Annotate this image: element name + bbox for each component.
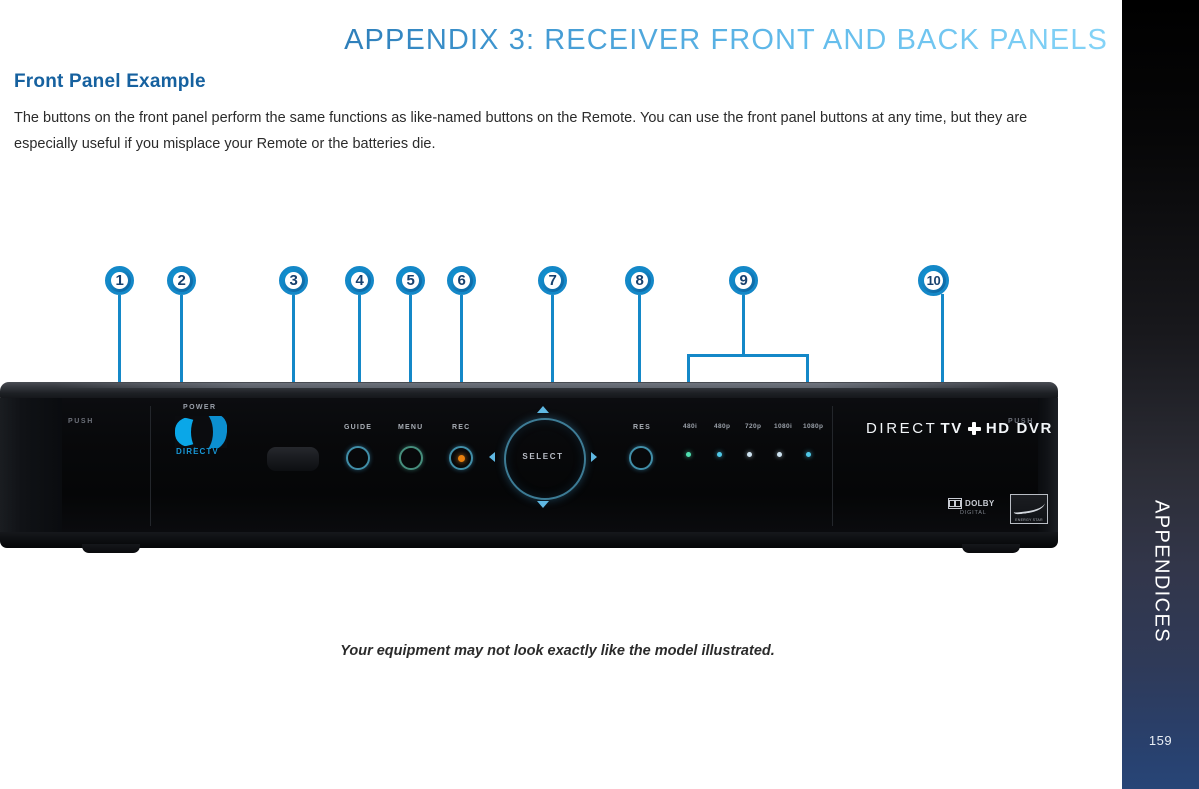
led-480p — [717, 452, 722, 457]
resolution-button-ring — [629, 446, 653, 470]
page-title: APPENDIX 3: RECEIVER FRONT AND BACK PANE… — [0, 24, 1108, 57]
dolby-sublabel: DIGITAL — [960, 510, 987, 516]
callout-bubble: 7 — [538, 266, 567, 295]
callout-bubble: 5 — [396, 266, 425, 295]
leader-line-9 — [742, 295, 745, 356]
guide-button[interactable] — [346, 446, 370, 470]
resolution-label-1080p: 1080p — [803, 423, 823, 430]
callout-number: 10 — [927, 274, 941, 287]
intro-paragraph: The buttons on the front panel perform t… — [14, 105, 1074, 157]
figure-caption: Your equipment may not look exactly like… — [0, 643, 1115, 659]
callout-number: 7 — [548, 273, 556, 288]
model-branding: DIRECTTV HD DVR — [866, 420, 1053, 437]
callout-number: 5 — [406, 273, 414, 288]
dolby-double-d-icon — [948, 498, 962, 509]
page-number: 159 — [1122, 733, 1199, 748]
led-1080i — [777, 452, 782, 457]
guide-button-ring — [346, 446, 370, 470]
callout-number: 9 — [739, 273, 747, 288]
record-button[interactable] — [449, 446, 473, 470]
callout-number: 6 — [457, 273, 465, 288]
arrow-down-icon[interactable] — [537, 501, 549, 508]
section-sidebar: APPENDICES 159 — [1122, 0, 1199, 789]
arrow-left-icon[interactable] — [489, 452, 495, 462]
led-1080p — [806, 452, 811, 457]
section-subtitle: Front Panel Example — [14, 71, 206, 93]
guide-button-label: GUIDE — [344, 424, 372, 431]
dolby-label: DOLBY — [965, 499, 995, 508]
callout-number: 1 — [115, 273, 123, 288]
resolution-label-720p: 720p — [745, 423, 761, 430]
brand-hd-dvr: HD DVR — [986, 420, 1053, 437]
resolution-label-1080i: 1080i — [774, 423, 792, 430]
access-card-door-seam — [832, 406, 833, 526]
resolution-label-480i: 480i — [683, 423, 697, 430]
brand-tv: TV — [940, 420, 962, 437]
energy-star-logo: ENERGY STAR — [1010, 494, 1048, 524]
appendix-page: APPENDICES 159 APPENDIX 3: RECEIVER FRON… — [0, 0, 1199, 789]
energy-star-swoosh-icon — [1012, 497, 1045, 515]
menu-button-ring — [399, 446, 423, 470]
power-button-directv-logo[interactable]: POWER DIRECTV — [175, 416, 227, 462]
callout-bubble: 4 — [345, 266, 374, 295]
resolution-indicator-lights — [683, 452, 815, 460]
device-foot-left — [82, 544, 140, 553]
callout-bubble: 6 — [447, 266, 476, 295]
sidebar-section-label: APPENDICES — [1149, 500, 1172, 643]
directv-wordmark: DIRECTV — [176, 447, 219, 456]
directv-satellite-icon — [175, 416, 227, 448]
callout-bubble: 8 — [625, 266, 654, 295]
led-720p — [747, 452, 752, 457]
callout-number: 8 — [635, 273, 643, 288]
resolution-indicator-labels: 480i 480p 720p 1080i 1080p — [683, 423, 815, 433]
device-foot-right — [962, 544, 1020, 553]
callout-number: 3 — [289, 273, 297, 288]
callout-bubble: 10 — [918, 265, 949, 296]
led-480i — [686, 452, 691, 457]
callout-bubble: 3 — [279, 266, 308, 295]
select-label: SELECT — [504, 452, 582, 461]
record-led — [458, 455, 465, 462]
menu-button[interactable] — [399, 446, 423, 470]
arrow-up-icon[interactable] — [537, 406, 549, 413]
record-button-label: REC — [452, 424, 470, 431]
resolution-button[interactable] — [629, 446, 653, 470]
callout-number: 2 — [177, 273, 185, 288]
device-left-bezel — [0, 398, 62, 532]
energy-star-label: ENERGY STAR — [1011, 518, 1047, 522]
menu-button-label: MENU — [398, 424, 423, 431]
callout-number: 4 — [355, 273, 363, 288]
callout-bubble: 1 — [105, 266, 134, 295]
directv-plus-icon — [968, 422, 981, 435]
push-label-left: PUSH — [68, 418, 94, 425]
resolution-label-480p: 480p — [714, 423, 730, 430]
arrow-right-icon[interactable] — [591, 452, 597, 462]
callout-bubble: 9 — [729, 266, 758, 295]
front-panel-door-seam-left — [150, 406, 151, 526]
power-label: POWER — [183, 404, 216, 411]
device-bottom-edge — [0, 532, 1058, 548]
callout-bubble: 2 — [167, 266, 196, 295]
brand-directv-prefix: DIRECT — [866, 420, 937, 437]
dolby-digital-logo: DOLBY — [948, 498, 995, 509]
device-top-highlight — [54, 383, 1014, 388]
resolution-button-label: RES — [633, 424, 651, 431]
remote-ir-sensor-window — [267, 447, 319, 471]
